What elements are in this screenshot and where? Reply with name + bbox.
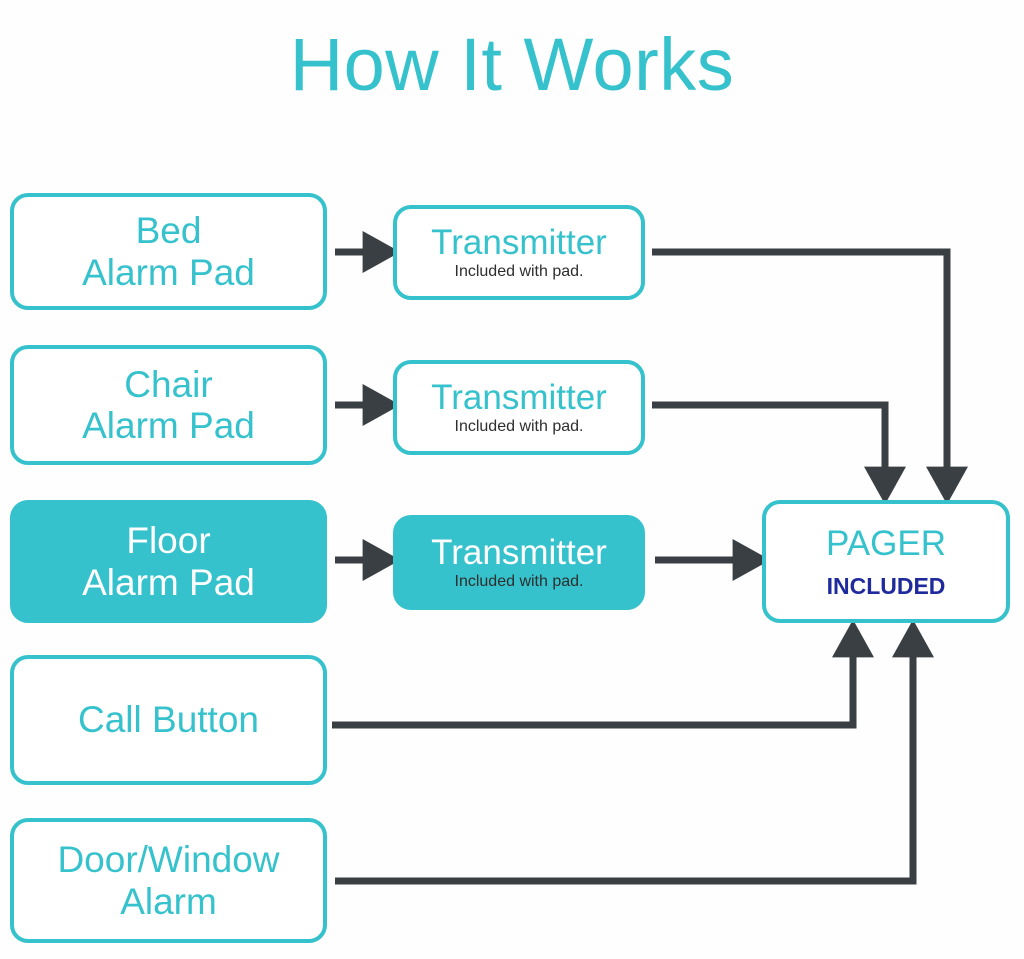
transmitter-subtitle: Included with pad. (455, 418, 584, 436)
transmitter-title: Transmitter (431, 225, 607, 260)
node-bed-alarm-pad[interactable]: Bed Alarm Pad (10, 193, 327, 310)
transmitter-subtitle: Included with pad. (455, 263, 584, 281)
node-floor-alarm-pad[interactable]: Floor Alarm Pad (10, 500, 327, 623)
node-call-button[interactable]: Call Button (10, 655, 327, 785)
node-door-window-alarm[interactable]: Door/Window Alarm (10, 818, 327, 943)
node-label-line2: Alarm Pad (82, 252, 255, 293)
page-title: How It Works (0, 28, 1024, 102)
node-label-line2: Alarm (120, 881, 217, 922)
how-it-works-diagram: How It Works Bed A (0, 0, 1024, 959)
node-label-line1: Bed (136, 210, 202, 251)
node-label-line1: Call Button (78, 699, 259, 740)
node-label-line1: Door/Window (57, 839, 279, 880)
transmitter-subtitle: Included with pad. (455, 573, 584, 591)
connector-transmitter-bed-to-pager (652, 252, 947, 482)
node-transmitter-bed[interactable]: Transmitter Included with pad. (393, 205, 645, 300)
node-label-line2: Alarm Pad (82, 405, 255, 446)
node-transmitter-floor[interactable]: Transmitter Included with pad. (393, 515, 645, 610)
connector-transmitter-chair-to-pager (652, 405, 885, 482)
node-pager[interactable]: PAGER INCLUDED (762, 500, 1010, 623)
connector-door-window-to-pager (335, 642, 913, 881)
node-chair-alarm-pad[interactable]: Chair Alarm Pad (10, 345, 327, 465)
node-label-line1: Chair (124, 364, 212, 405)
node-label-line1: Floor (126, 520, 210, 561)
pager-title: PAGER (826, 526, 946, 561)
connector-call-button-to-pager (332, 642, 853, 725)
pager-included-badge: INCLUDED (827, 575, 946, 598)
transmitter-title: Transmitter (431, 535, 607, 570)
connector-layer (0, 0, 1024, 959)
transmitter-title: Transmitter (431, 380, 607, 415)
node-transmitter-chair[interactable]: Transmitter Included with pad. (393, 360, 645, 455)
node-label-line2: Alarm Pad (82, 562, 255, 603)
